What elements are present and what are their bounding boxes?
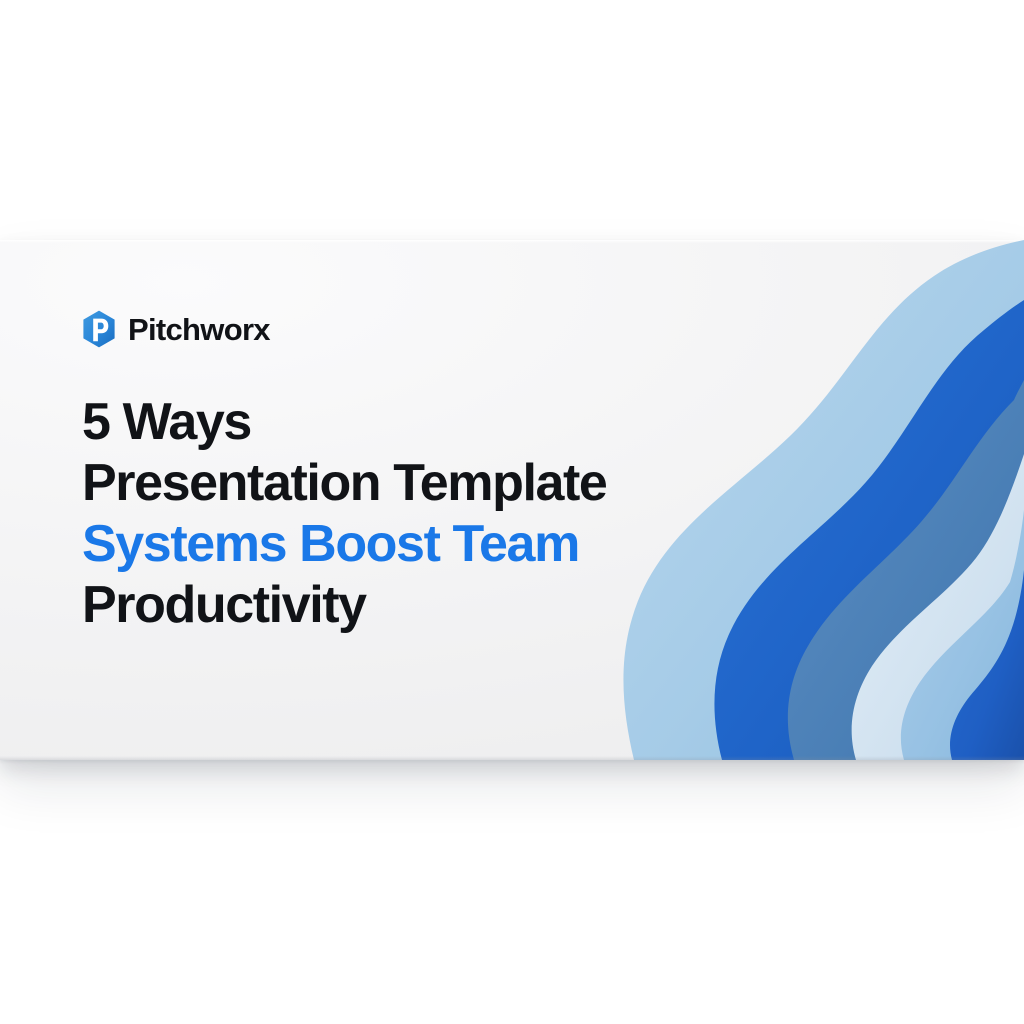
slide-canvas: Pitchworx 5 Ways Presentation Template S…: [0, 0, 1024, 1024]
headline-line-1: 5 Ways: [82, 392, 682, 453]
brand-logo-lockup[interactable]: Pitchworx: [82, 310, 270, 348]
headline-block: 5 Ways Presentation Template Systems Boo…: [82, 392, 682, 636]
brand-wordmark: Pitchworx: [128, 314, 270, 345]
headline-line-2: Presentation Template: [82, 453, 682, 514]
headline-line-4: Productivity: [82, 575, 682, 636]
hexagon-p-logo-icon: [82, 310, 116, 348]
headline-line-3-accent: Systems Boost Team: [82, 514, 682, 575]
